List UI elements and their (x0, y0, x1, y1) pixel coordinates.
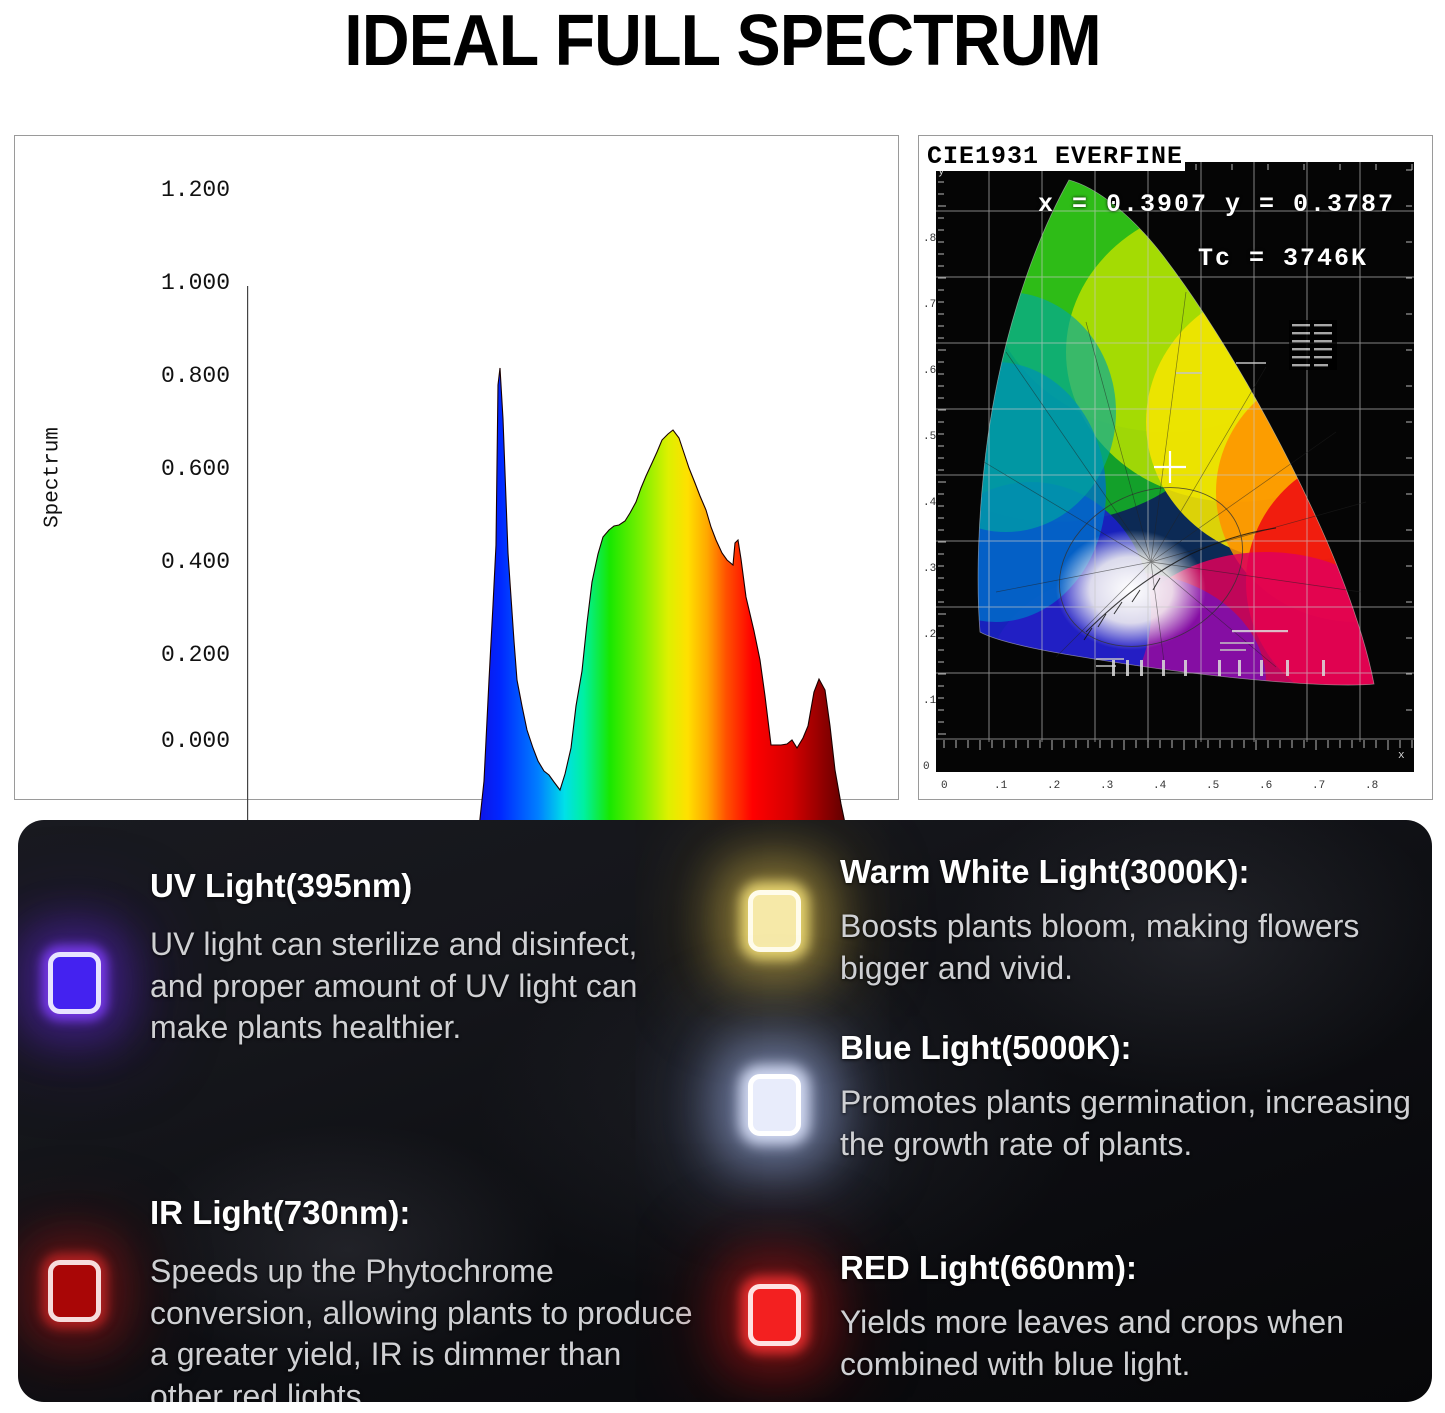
spectrum-curve (247, 368, 895, 878)
cie-x-tick: .2 (1047, 780, 1060, 792)
cie-y-tick: .6 (923, 365, 936, 377)
cie-x-tick: .7 (1312, 780, 1325, 792)
spectrum-y-tick: 0.400 (125, 549, 230, 575)
cie-tc-readout: Tc = 3746K (1198, 244, 1368, 273)
spectrum-y-tick: 1.200 (125, 177, 230, 203)
cie-y-tick: .1 (923, 695, 936, 707)
cie-x-tick: .8 (1365, 780, 1378, 792)
spectrum-y-tick: 1.000 (125, 270, 230, 296)
cie-y-tick: .2 (923, 629, 936, 641)
spectrum-y-tick: 0.000 (125, 728, 230, 754)
cie-x-tick: .3 (1100, 780, 1113, 792)
ir-led-icon (48, 1260, 101, 1322)
cie-x-tick: .1 (994, 780, 1007, 792)
feature-body: Boosts plants bloom, making flowers bigg… (840, 906, 1430, 989)
feature-body: Yields more leaves and crops when combin… (840, 1302, 1432, 1385)
spectrum-y-axis-label: Spectrum (42, 408, 65, 548)
spectrum-plot-area (247, 286, 895, 878)
cie-y-tick: .5 (923, 431, 936, 443)
feature-heading: UV Light(395nm) (150, 868, 412, 904)
cie-x-tick: .5 (1206, 780, 1219, 792)
feature-body: UV light can sterilize and disinfect, an… (150, 924, 695, 1049)
red-led-icon (748, 1284, 801, 1346)
cie-y-tick: .3 (923, 563, 936, 575)
blue-led-icon (748, 1074, 801, 1136)
spectrum-chart-panel: Spectrum 1.200 1.000 0.800 0.600 0.400 0… (14, 135, 899, 800)
spectrum-svg (247, 286, 895, 878)
cie-x-tick: .4 (1153, 780, 1166, 792)
cie-legend-block (1289, 320, 1337, 370)
spectrum-y-tick: 0.800 (125, 363, 230, 389)
feature-heading: IR Light(730nm): (150, 1195, 410, 1231)
feature-heading: Warm White Light(3000K): (840, 854, 1249, 890)
cie-y-tick: 0 (923, 761, 930, 773)
cie-y-tick: .4 (923, 497, 936, 509)
feature-heading: Blue Light(5000K): (840, 1030, 1132, 1066)
page-title: IDEAL FULL SPECTRUM (58, 0, 1387, 82)
cie-chart-panel: x = 0.3907 y = 0.3787 Tc = 3746K y x CIE… (918, 135, 1433, 800)
spectrum-y-tick: 0.200 (125, 642, 230, 668)
warm-white-led-icon (748, 890, 801, 952)
spectrum-y-tick: 0.600 (125, 456, 230, 482)
uv-led-icon (48, 952, 101, 1014)
cie-y-tick: .8 (923, 233, 936, 245)
feature-heading: RED Light(660nm): (840, 1250, 1137, 1286)
cie-chart-title: CIE1931 EVERFINE (925, 142, 1185, 171)
cie-x-axis-label: x (1398, 750, 1405, 762)
feature-body: Promotes plants germination, increasing … (840, 1082, 1430, 1165)
cie-x-tick: 0 (941, 780, 948, 792)
cie-xy-readout: x = 0.3907 y = 0.3787 (1038, 190, 1395, 219)
cie-y-tick: .7 (923, 299, 936, 311)
feature-body: Speeds up the Phytochrome conversion, al… (150, 1251, 695, 1402)
cie-x-tick: .6 (1259, 780, 1272, 792)
cie-plot-area: x = 0.3907 y = 0.3787 Tc = 3746K y x (936, 162, 1414, 772)
features-panel: UV Light(395nm) UV light can sterilize a… (18, 820, 1432, 1402)
